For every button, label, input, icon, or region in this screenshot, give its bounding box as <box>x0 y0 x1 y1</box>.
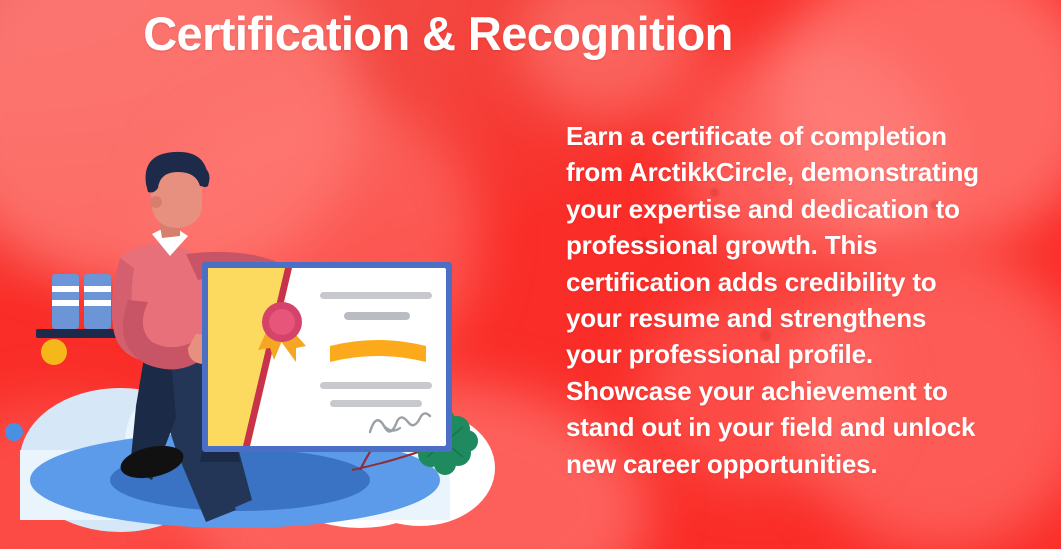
cert-text-line <box>320 292 432 299</box>
body-paragraph: Earn a certificate of completion from Ar… <box>566 118 986 482</box>
cert-text-line <box>330 400 422 407</box>
dot-yellow <box>41 339 67 365</box>
cert-text-line <box>344 312 410 320</box>
slide-certification-recognition: Certification & Recognition Earn a certi… <box>0 0 1061 549</box>
dot-blue-small <box>5 423 23 441</box>
illustration-person-certificate <box>0 150 500 549</box>
page-title: Certification & Recognition <box>0 4 876 64</box>
certificate <box>202 262 452 452</box>
cert-text-line <box>320 382 432 389</box>
